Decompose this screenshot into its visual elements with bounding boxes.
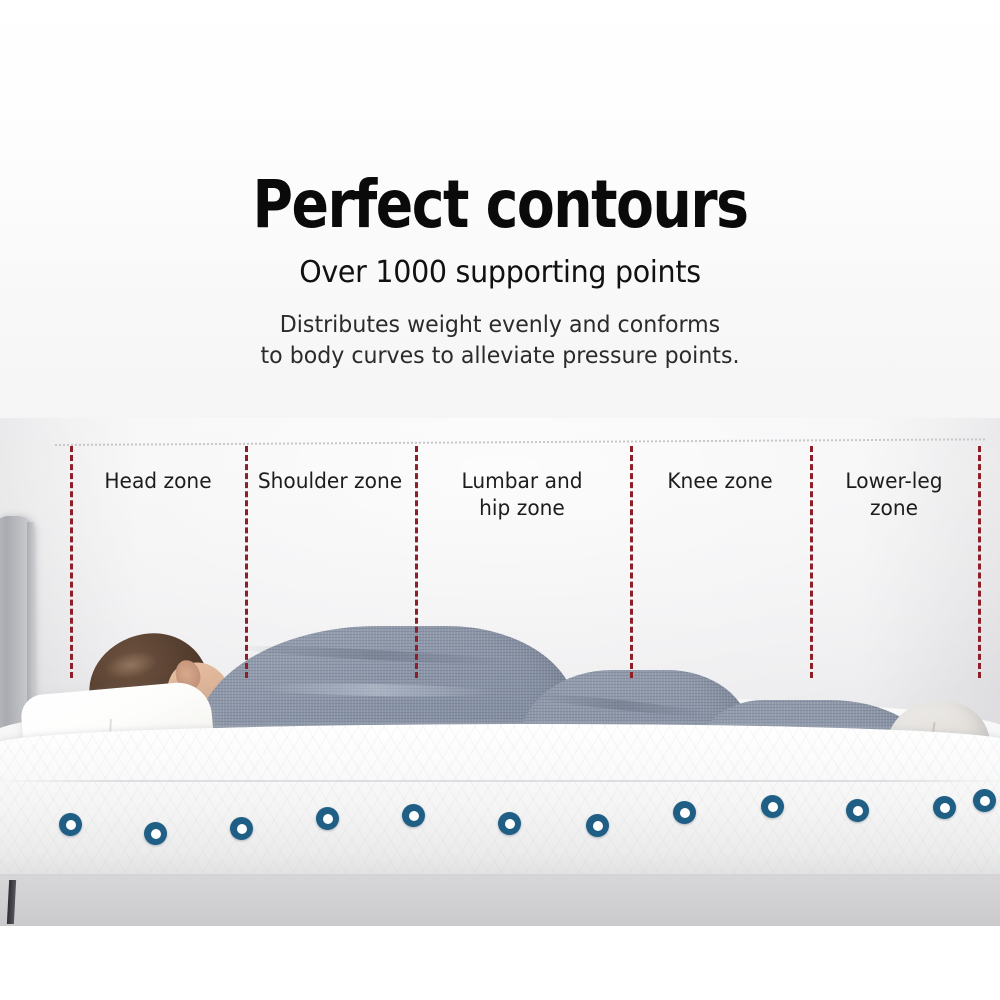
- body-copy-line-2: to body curves to alleviate pressure poi…: [20, 341, 980, 372]
- copy-band: Perfect contours Over 1000 supporting po…: [0, 0, 1000, 430]
- mattress-seam: [0, 780, 1000, 782]
- subheadline: Over 1000 supporting points: [25, 254, 975, 292]
- mattress: [0, 724, 1000, 874]
- body-copy: Distributes weight evenly and conforms t…: [20, 310, 980, 372]
- headline: Perfect contours: [35, 168, 965, 242]
- product-feature-image: Perfect contours Over 1000 supporting po…: [0, 0, 1000, 1000]
- bedroom-photo: [0, 418, 1000, 926]
- body-copy-line-1: Distributes weight evenly and conforms: [20, 310, 980, 341]
- mattress-quilt-texture: [0, 724, 1000, 874]
